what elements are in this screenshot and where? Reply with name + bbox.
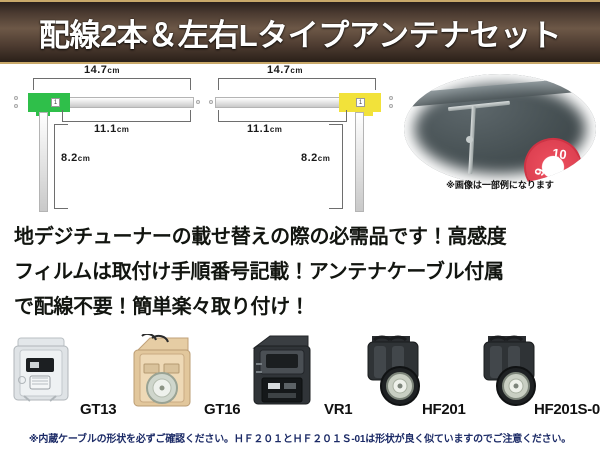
gt16-connector-icon bbox=[128, 334, 196, 410]
connector-label-gt16: GT16 bbox=[204, 401, 240, 418]
right-pad-number: 1 bbox=[356, 98, 365, 107]
connector-label-hf201: HF201 bbox=[422, 401, 466, 418]
description-line-1: 地デジチューナーの載せ替えの際の必需品です！高感度 bbox=[14, 220, 586, 255]
left-pin-upper bbox=[14, 96, 18, 100]
right-pin-end bbox=[209, 100, 213, 104]
left-pin-lower bbox=[14, 104, 18, 108]
connector-label-gt13: GT13 bbox=[80, 401, 116, 418]
page-title: 配線2本＆左右Lタイプアンテナセット bbox=[39, 10, 561, 55]
description-line-3: で配線不要！簡単楽々取り付け！ bbox=[14, 290, 586, 325]
connector-item-hf201s01: HF201S-01 bbox=[476, 332, 600, 424]
left-height-dimension-label: 8.2cm bbox=[61, 152, 90, 164]
footer-note-bar: ※内蔵ケーブルの形状を必ずご確認ください。ＨＦ２０１とＨＦ２０１Ｓ-01は形状が… bbox=[0, 424, 600, 450]
hf201-connector-icon bbox=[360, 334, 430, 410]
right-vertical-film-strip bbox=[355, 112, 364, 212]
left-pad-number: 1 bbox=[51, 98, 60, 107]
right-pin-lower bbox=[389, 104, 393, 108]
left-antenna-figure: 14.7cm 1 11.1cm 8.2cm bbox=[6, 64, 206, 212]
right-antenna-figure: 14.7cm 1 11.1cm 8.2cm bbox=[205, 64, 405, 212]
example-photo: 9 10 ※画像は一部例になります bbox=[404, 74, 596, 190]
description-line-2: フィルムは取付け手順番号記載！アンテナケーブル付属 bbox=[14, 255, 586, 290]
right-inner-dimension-label: 11.1cm bbox=[247, 123, 282, 135]
sticker-digit-a: 9 bbox=[531, 166, 547, 177]
connector-label-hf201s01: HF201S-01 bbox=[534, 401, 600, 418]
right-height-dimension-bracket bbox=[329, 124, 343, 209]
connector-item-gt16: GT16 bbox=[128, 332, 258, 424]
right-height-dimension-label: 8.2cm bbox=[301, 152, 330, 164]
left-height-dimension-bracket bbox=[54, 124, 68, 209]
gt13-connector-icon bbox=[12, 334, 74, 406]
photo-caption: ※画像は一部例になります bbox=[404, 178, 596, 191]
left-vertical-film-strip bbox=[39, 112, 48, 212]
photo-antenna-joint bbox=[466, 136, 473, 143]
photo-oval-frame: 9 10 bbox=[404, 74, 596, 184]
footer-note: ※内蔵ケーブルの形状を必ずご確認ください。ＨＦ２０１とＨＦ２０１Ｓ-01は形状が… bbox=[29, 430, 571, 445]
sticker-digit-b: 10 bbox=[551, 146, 567, 163]
connector-item-hf201: HF201 bbox=[360, 332, 490, 424]
connector-gallery: GT13 GT16 VR bbox=[0, 332, 600, 424]
red-inspection-sticker: 9 10 bbox=[516, 130, 589, 184]
right-pin-upper bbox=[389, 96, 393, 100]
left-inner-dimension-bracket bbox=[62, 110, 191, 122]
hf201s01-connector-icon bbox=[476, 334, 546, 410]
left-pin-end bbox=[196, 100, 200, 104]
header-banner: 配線2本＆左右Lタイプアンテナセット bbox=[0, 0, 600, 64]
right-inner-dimension-bracket bbox=[218, 110, 347, 122]
connector-label-vr1: VR1 bbox=[324, 401, 352, 418]
description-block: 地デジチューナーの載せ替えの際の必需品です！高感度 フィルムは取付け手順番号記載… bbox=[0, 214, 600, 332]
connector-item-gt13: GT13 bbox=[12, 332, 142, 424]
vr1-connector-icon bbox=[250, 334, 318, 410]
left-outer-dimension-bracket bbox=[33, 78, 191, 90]
right-outer-dimension-label: 14.7cm bbox=[267, 64, 303, 76]
left-outer-dimension-label: 14.7cm bbox=[84, 64, 120, 76]
right-outer-dimension-bracket bbox=[218, 78, 376, 90]
left-inner-dimension-label: 11.1cm bbox=[94, 123, 129, 135]
